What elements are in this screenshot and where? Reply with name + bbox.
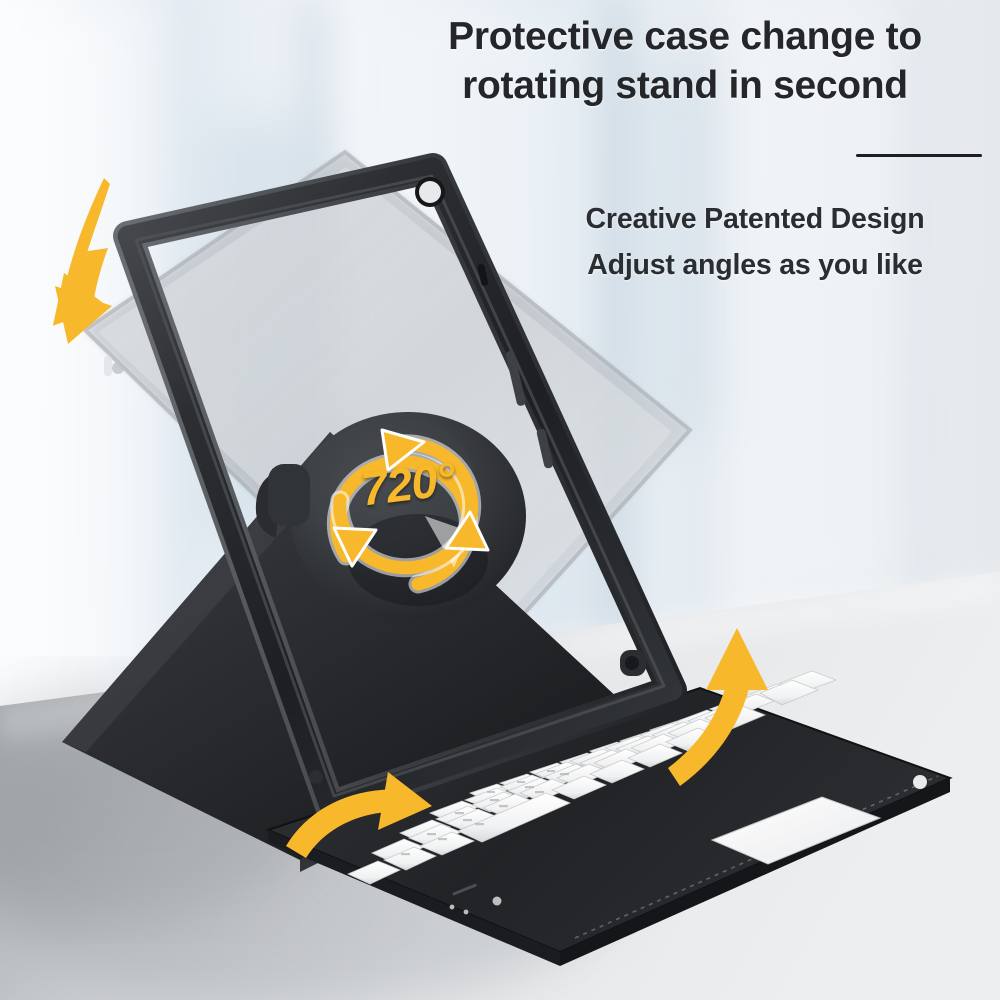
headline-line-1: Protective case change to xyxy=(448,15,922,58)
product-illustration xyxy=(0,0,1000,1000)
headline-line-2: rotating stand in second xyxy=(462,64,908,107)
divider-rule xyxy=(856,154,982,157)
subheading-line-2: Adjust angles as you like xyxy=(520,242,990,288)
subheading-line-1: Creative Patented Design xyxy=(520,196,990,242)
product-image-canvas: Protective case change to rotating stand… xyxy=(0,0,1000,1000)
page-subheading: Creative Patented Design Adjust angles a… xyxy=(520,196,990,288)
page-headline: Protective case change to rotating stand… xyxy=(380,12,990,110)
